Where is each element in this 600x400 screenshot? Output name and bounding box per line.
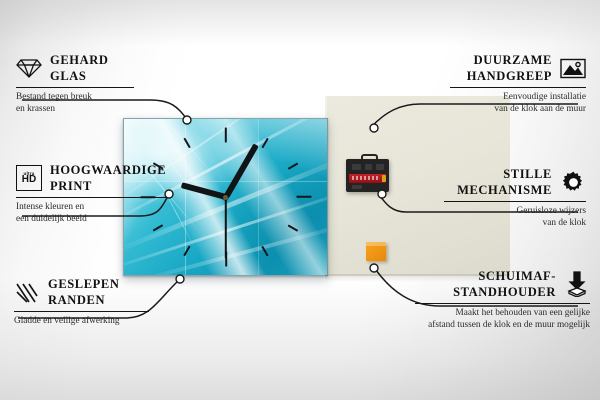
infographic-canvas: GEHARD GLAS Bestand tegen breuk en krass… [0,0,600,400]
feature-duurzame-handgreep: DUURZAME HANDGREEP Eenvoudige installati… [426,52,586,116]
feature-title: SCHUIMAF- STANDHOUDER [453,268,556,301]
feature-header: ultra HD HOOGWAARDIGE PRINT [16,162,188,195]
feature-rule [16,87,134,88]
feature-title: GEHARD GLAS [50,52,108,85]
clock-marker [224,128,226,143]
ultra-hd-icon: ultra HD [16,165,42,191]
mechanism-detail [352,164,361,170]
clock-second-hand [225,197,227,259]
clock-center-pivot [223,195,228,200]
feature-header: GEHARD GLAS [16,52,154,85]
battery-terminal [382,175,386,182]
feature-stille-mechanisme: STILLE MECHANISME Geruisloze wijzers van… [426,166,586,230]
feature-title-line-1: DUURZAME [474,53,552,67]
diagonal-lines-icon [14,279,40,305]
feature-rule [444,201,586,202]
feature-subtitle: Intense kleuren en een duidelijk beeld [16,201,188,226]
feature-title-line-2: RANDEN [48,293,105,307]
clock-mechanism [346,154,389,192]
feature-title-line-2: HANDGREEP [467,69,552,83]
feature-title: GESLEPEN RANDEN [48,276,120,309]
feature-title: HOOGWAARDIGE PRINT [50,162,166,195]
feature-title-line-1: HOOGWAARDIGE [50,163,166,177]
mechanism-detail [352,185,362,189]
feature-schuimafstandhouder: SCHUIMAF- STANDHOUDER Maakt het behouden… [394,268,590,332]
feature-header: SCHUIMAF- STANDHOUDER [394,268,590,301]
feature-title: STILLE MECHANISME [457,166,552,199]
feature-title-line-2: GLAS [50,69,86,83]
feature-header: STILLE MECHANISME [426,166,586,199]
feature-header: GESLEPEN RANDEN [14,276,166,309]
feature-title-line-2: MECHANISME [457,183,552,197]
feature-title-line-2: PRINT [50,179,92,193]
feature-title-line-2: STANDHOUDER [453,285,556,299]
feature-subtitle: Gladde en veilige afwerking [14,315,166,327]
mechanism-detail [365,164,372,170]
feature-title-line-1: GESLEPEN [48,277,120,291]
feature-gehard-glas: GEHARD GLAS Bestand tegen breuk en krass… [16,52,154,116]
feature-title-line-1: GEHARD [50,53,108,67]
feature-rule [450,87,586,88]
feature-subtitle: Eenvoudige installatie van de klok aan d… [426,91,586,116]
framed-picture-icon [560,55,586,81]
gear-icon [560,169,586,195]
feature-subtitle: Geruisloze wijzers van de klok [426,205,586,230]
feature-hoogwaardige-print: ultra HD HOOGWAARDIGE PRINT Intense kleu… [16,162,188,226]
feature-subtitle: Maakt het behouden van een gelijke afsta… [394,307,590,332]
foam-spacer-highlight [366,242,386,246]
mechanism-detail [376,164,384,170]
feature-header: DUURZAME HANDGREEP [426,52,586,85]
feature-geslepen-randen: GESLEPEN RANDEN Gladde en veilige afwerk… [14,276,166,327]
feature-title-line-1: STILLE [503,167,552,181]
diamond-icon [16,55,42,81]
feature-rule [14,311,149,312]
feature-rule [16,197,166,198]
feature-rule [415,303,590,304]
feature-subtitle: Bestand tegen breuk en krassen [16,91,154,116]
background-top-shade [0,0,600,46]
feature-title-line-1: SCHUIMAF- [478,269,556,283]
feature-title: DUURZAME HANDGREEP [467,52,552,85]
battery-label [352,176,378,180]
arrow-down-pad-icon [564,271,590,297]
